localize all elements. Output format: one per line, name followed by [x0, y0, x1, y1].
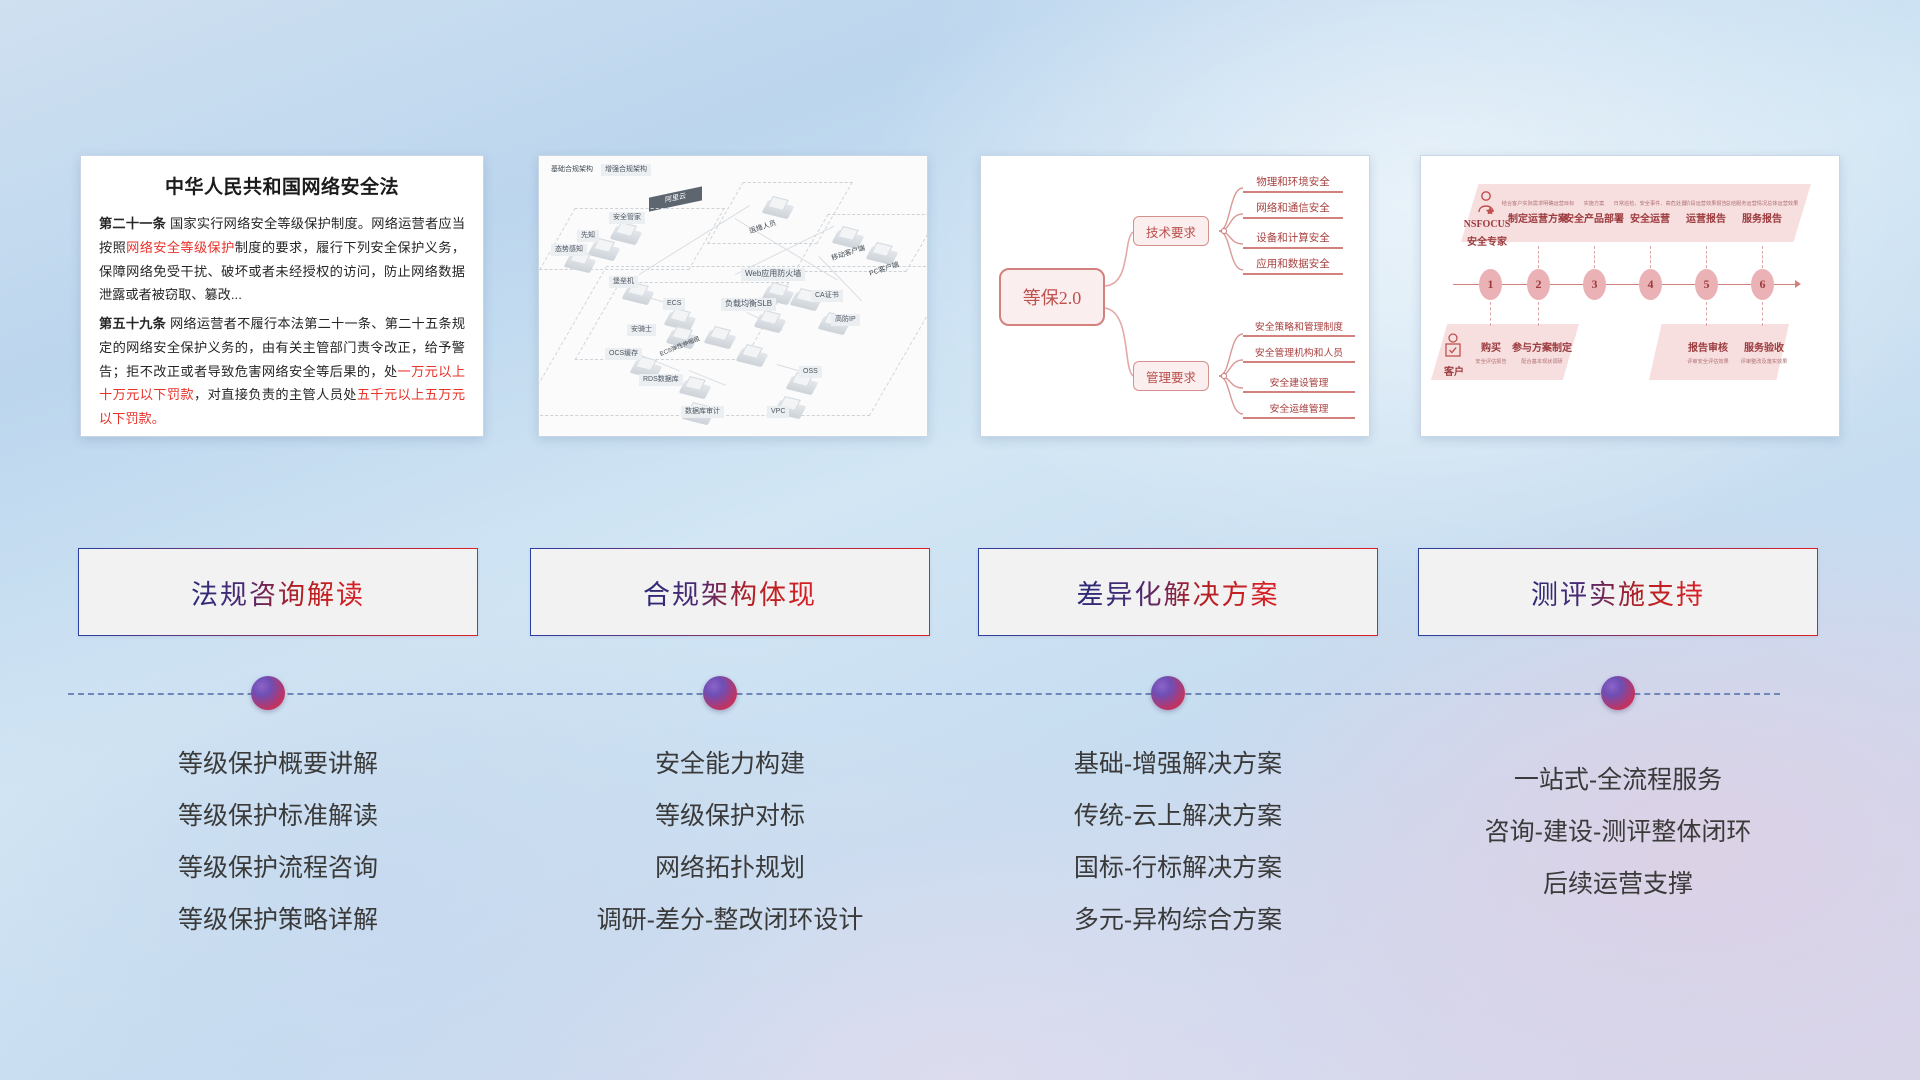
category-label: 法规咨询解读: [191, 573, 365, 612]
bullet-list-regulation: 等级保护概要讲解 等级保护标准解读 等级保护流程咨询 等级保护策略详解: [78, 752, 478, 933]
list-item: 传统-云上解决方案: [978, 804, 1378, 829]
arch-label-xianzhi: 先知: [577, 230, 599, 242]
cards-row: 中华人民共和国网络安全法 第二十一条 国家实行网络安全等级保护制度。网络运营者应…: [0, 0, 1920, 460]
timeline-connector: [1490, 302, 1491, 326]
bullet-list-solution: 基础-增强解决方案 传统-云上解决方案 国标-行标解决方案 多元-异构综合方案: [978, 752, 1378, 933]
expert-role-line2: 安全专家: [1467, 237, 1507, 248]
timeline-top-item: 总结服务运营情况总体运营效果 服务报告: [1724, 200, 1800, 227]
timeline-step-node[interactable]: 2: [1527, 269, 1550, 300]
list-item: 安全能力构建: [530, 752, 930, 777]
timeline-bottom-item: 参与方案制定 配合基本现状调研: [1511, 338, 1573, 365]
law-title: 中华人民共和国网络安全法: [99, 172, 465, 199]
timeline-step-node[interactable]: 1: [1479, 269, 1502, 300]
arch-label-waf: Web应用防火墙: [741, 268, 805, 281]
arch-label-antiddos: 高防IP: [831, 314, 860, 326]
list-item: 多元-异构综合方案: [978, 908, 1378, 933]
arch-node: [667, 310, 693, 328]
timeline-bottom-item: 报告审核 评审安全评估效果: [1677, 338, 1739, 365]
mindmap-leaf: 安全运维管理: [1243, 401, 1355, 419]
list-item: 等级保护策略详解: [78, 908, 478, 933]
arch-node: [591, 240, 617, 258]
mindmap-branch-technical: 技术要求: [1133, 216, 1209, 246]
arch-label-security-butler: 安全管家: [609, 212, 645, 224]
timeline-connector: [1594, 246, 1595, 268]
arch-node: [707, 328, 733, 346]
mindmap-leaf: 应用和数据安全: [1243, 256, 1343, 275]
architecture-diagram: 基础合规架构 增强合规架构 阿里云: [539, 156, 927, 436]
timeline-connector: [1538, 302, 1539, 326]
timeline-connector: [1706, 246, 1707, 268]
category-label: 测评实施支持: [1531, 573, 1705, 612]
arch-node: [869, 244, 895, 262]
mindmap: 等保2.0 技术要求 物理和环境安全 网络和通信安全 设备和计算安全 应用和数据…: [981, 156, 1369, 436]
list-item: 国标-行标解决方案: [978, 856, 1378, 881]
list-item: 网络拓扑规划: [530, 856, 930, 881]
timeline-step-node[interactable]: 6: [1751, 269, 1774, 300]
category-box-evaluation-support[interactable]: 测评实施支持: [1418, 548, 1818, 636]
timeline-dashed-axis: [68, 693, 1780, 695]
arch-label-anqishi: 安骑士: [627, 324, 656, 336]
law-paragraph-2: 第五十九条 网络运营者不履行本法第二十一条、第二十五条规定的网络安全保护义务的，…: [99, 312, 465, 431]
list-item: 等级保护流程咨询: [78, 856, 478, 881]
mindmap-collapse-icon[interactable]: [1221, 228, 1227, 234]
list-item: 后续运营支撑: [1418, 872, 1818, 897]
arch-label-ca: CA证书: [811, 290, 843, 302]
arch-label-oss: OSS: [799, 366, 822, 378]
timeline-axis: [1453, 284, 1797, 285]
law-text-highlight: 网络安全等级保护: [126, 240, 235, 255]
arch-node: [765, 198, 791, 216]
category-label: 合规架构体现: [643, 573, 817, 612]
category-box-regulation-consulting[interactable]: 法规咨询解读: [78, 548, 478, 636]
mindmap-leaf: 设备和计算安全: [1243, 230, 1343, 249]
arch-node: [739, 346, 765, 364]
law-article-number: 第五十九条: [99, 316, 166, 331]
list-item: 一站式-全流程服务: [1418, 768, 1818, 793]
list-item: 调研-差分-整改闭环设计: [530, 908, 930, 933]
timeline-connector: [1762, 246, 1763, 268]
mindmap-leaf: 物理和环境安全: [1243, 174, 1343, 193]
bullet-list-architecture: 安全能力构建 等级保护对标 网络拓扑规划 调研-差分-整改闭环设计: [530, 752, 930, 933]
mindmap-root: 等保2.0: [999, 268, 1105, 326]
arch-node: [757, 312, 783, 330]
timeline-marker-2[interactable]: [703, 676, 737, 710]
timeline-marker-3[interactable]: [1151, 676, 1185, 710]
list-item: 等级保护概要讲解: [78, 752, 478, 777]
category-box-compliance-architecture[interactable]: 合规架构体现: [530, 548, 930, 636]
card-cybersecurity-law: 中华人民共和国网络安全法 第二十一条 国家实行网络安全等级保护制度。网络运营者应…: [80, 155, 484, 437]
mindmap-leaf: 网络和通信安全: [1243, 200, 1343, 219]
law-article-number: 第二十一条: [99, 216, 166, 231]
arch-legend-enhanced: 增强合规架构: [601, 164, 651, 176]
card-nsfocus-timeline: NSFOCUS 安全专家 客户 1 2 3 4 5 6: [1420, 155, 1840, 437]
arch-label-db-audit: 数据库审计: [681, 406, 724, 418]
arch-node: [835, 228, 861, 246]
list-item: 等级保护标准解读: [78, 804, 478, 829]
arch-label-slb: 负载均衡SLB: [721, 298, 776, 311]
card-cloud-architecture: 基础合规架构 增强合规架构 阿里云: [538, 155, 928, 437]
timeline-step-node[interactable]: 4: [1639, 269, 1662, 300]
timeline-step-node[interactable]: 3: [1583, 269, 1606, 300]
arch-label-ocs: OCS缓存: [605, 348, 642, 360]
timeline-bottom-item: 购买 安全评估报告: [1465, 338, 1517, 365]
customer-person-icon: [1443, 332, 1463, 360]
mindmap-leaf: 安全策略和管理制度: [1243, 319, 1355, 337]
law-text: ，对直接负责的主管人员处: [194, 387, 357, 402]
law-paragraph-1: 第二十一条 国家实行网络安全等级保护制度。网络运营者应当按照网络安全等级保护制度…: [99, 212, 465, 307]
list-item: 等级保护对标: [530, 804, 930, 829]
category-label: 差异化解决方案: [1077, 573, 1280, 612]
card-mindmap-dengbao: 等保2.0 技术要求 物理和环境安全 网络和通信安全 设备和计算安全 应用和数据…: [980, 155, 1370, 437]
arch-label-bastion: 堡垒机: [609, 276, 638, 288]
arch-node: [682, 378, 708, 396]
timeline-arrow-icon: [1795, 280, 1801, 288]
timeline-connector: [1762, 302, 1763, 326]
timeline-connector: [1538, 246, 1539, 268]
mindmap-leaf: 安全管理机构和人员: [1243, 345, 1355, 363]
list-item: 咨询-建设-测评整体闭环: [1418, 820, 1818, 845]
arch-label-rds: RDS数据库: [639, 374, 683, 386]
timeline-marker-1[interactable]: [251, 676, 285, 710]
bullet-list-evaluation: 一站式-全流程服务 咨询-建设-测评整体闭环 后续运营支撑: [1418, 768, 1818, 897]
list-item: 基础-增强解决方案: [978, 752, 1378, 777]
timeline-bottom-item: 服务验收 评审整改及落实效果: [1733, 338, 1795, 365]
service-timeline: NSFOCUS 安全专家 客户 1 2 3 4 5 6: [1421, 156, 1839, 436]
arch-label-ecs: ECS: [663, 298, 685, 310]
mindmap-branch-management: 管理要求: [1133, 361, 1209, 391]
arch-legend-basic: 基础合规架构: [547, 164, 597, 176]
arch-label-situational: 态势感知: [551, 244, 587, 256]
expert-person-icon: [1475, 190, 1497, 214]
mindmap-leaf: 安全建设管理: [1243, 375, 1355, 393]
timeline-step-node[interactable]: 5: [1695, 269, 1718, 300]
arch-label-vpc: VPC: [767, 406, 789, 418]
timeline-connector: [1706, 302, 1707, 326]
category-box-differentiated-solution[interactable]: 差异化解决方案: [978, 548, 1378, 636]
mindmap-collapse-icon[interactable]: [1221, 373, 1227, 379]
timeline-marker-4[interactable]: [1601, 676, 1635, 710]
timeline-connector: [1650, 246, 1651, 268]
